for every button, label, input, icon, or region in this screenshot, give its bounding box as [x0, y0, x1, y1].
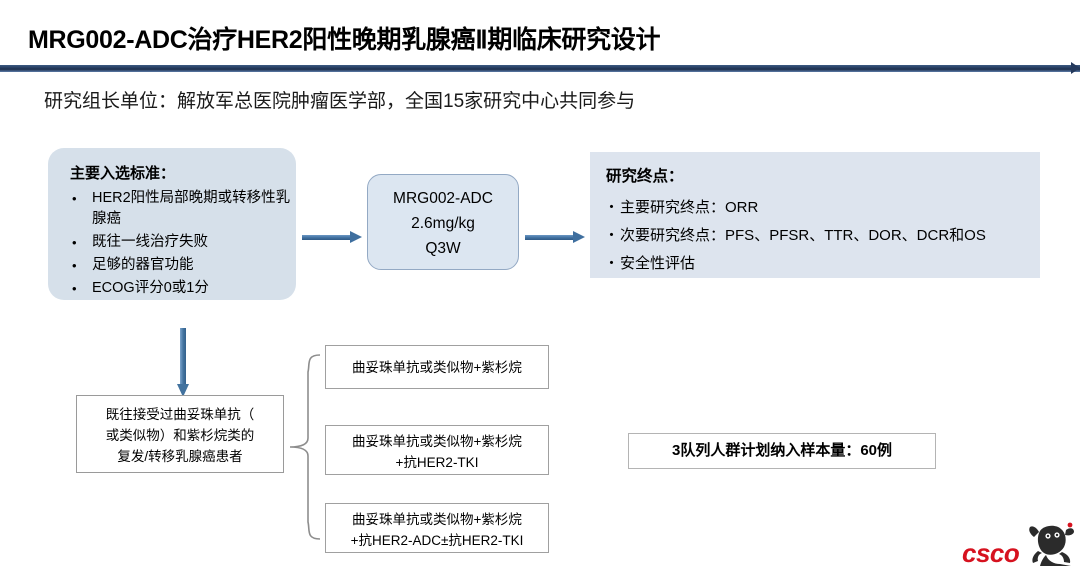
- arrow-head: [350, 231, 362, 243]
- title-divider-arrowhead: [1071, 62, 1080, 74]
- study-endpoints-heading: 研究终点：: [606, 164, 684, 186]
- inclusion-criteria-list: HER2阳性局部晚期或转移性乳腺癌 既往一线治疗失败 足够的器官功能 ECOG评…: [62, 188, 294, 301]
- arrow-shaft: [525, 235, 575, 240]
- list-item: 主要研究终点：ORR: [604, 194, 986, 222]
- drug-schedule: Q3W: [368, 236, 518, 261]
- cohort-line: +抗HER2-TKI: [326, 452, 548, 473]
- csco-logo: csco: [962, 521, 1076, 569]
- arrow-shaft: [180, 328, 186, 386]
- list-item: 既往一线治疗失败: [62, 232, 294, 253]
- cohort-line: 曲妥珠单抗或类似物+紫杉烷: [326, 357, 548, 378]
- cohort-arm-box: 曲妥珠单抗或类似物+紫杉烷 +抗HER2-ADC±抗HER2-TKI: [325, 503, 549, 553]
- list-item: HER2阳性局部晚期或转移性乳腺癌: [62, 188, 294, 230]
- inclusion-criteria-panel: 主要入选标准： HER2阳性局部晚期或转移性乳腺癌 既往一线治疗失败 足够的器官…: [48, 148, 296, 300]
- arrow-shaft: [302, 235, 352, 240]
- arrow-right-icon: [525, 232, 587, 242]
- prior-treatment-population-box: 既往接受过曲妥珠单抗（ 或类似物）和紫杉烷类的 复发/转移乳腺癌患者: [76, 395, 284, 473]
- list-item: 次要研究终点：PFS、PFSR、TTR、DOR、DCR和OS: [604, 222, 986, 250]
- inclusion-criteria-heading: 主要入选标准：: [70, 162, 175, 183]
- subtitle-text: 研究组长单位：解放军总医院肿瘤医学部，全国15家研究中心共同参与: [44, 86, 635, 113]
- treatment-regimen-box: MRG002-ADC 2.6mg/kg Q3W: [367, 174, 519, 270]
- csco-wordmark: csco: [962, 538, 1019, 569]
- list-item: 安全性评估: [604, 250, 986, 278]
- sample-size-box: 3队列人群计划纳入样本量：60例: [628, 433, 936, 469]
- cohort-line: +抗HER2-ADC±抗HER2-TKI: [326, 530, 548, 551]
- cohort-line: 曲妥珠单抗或类似物+紫杉烷: [326, 431, 548, 452]
- population-line: 既往接受过曲妥珠单抗（: [77, 404, 283, 425]
- list-item: 足够的器官功能: [62, 255, 294, 276]
- cohort-arm-box: 曲妥珠单抗或类似物+紫杉烷 +抗HER2-TKI: [325, 425, 549, 475]
- list-item: ECOG评分0或1分: [62, 278, 294, 299]
- cohort-line: 曲妥珠单抗或类似物+紫杉烷: [326, 509, 548, 530]
- cohort-arm-box: 曲妥珠单抗或类似物+紫杉烷: [325, 345, 549, 389]
- arrow-head: [573, 231, 585, 243]
- brace-connector-icon: [288, 352, 322, 542]
- population-line: 或类似物）和紫杉烷类的: [77, 425, 283, 446]
- drug-name: MRG002-ADC: [368, 186, 518, 211]
- crab-emblem-icon: [1026, 521, 1076, 567]
- page-title: MRG002-ADC治疗HER2阳性晚期乳腺癌Ⅱ期临床研究设计: [28, 20, 660, 56]
- population-line: 复发/转移乳腺癌患者: [77, 446, 283, 467]
- study-endpoints-list: 主要研究终点：ORR 次要研究终点：PFS、PFSR、TTR、DOR、DCR和O…: [604, 194, 986, 278]
- title-divider: [0, 65, 1080, 72]
- arrow-right-icon: [302, 232, 364, 242]
- drug-dose: 2.6mg/kg: [368, 211, 518, 236]
- arrow-down-icon: [176, 328, 190, 400]
- study-endpoints-panel: 研究终点： 主要研究终点：ORR 次要研究终点：PFS、PFSR、TTR、DOR…: [590, 152, 1040, 278]
